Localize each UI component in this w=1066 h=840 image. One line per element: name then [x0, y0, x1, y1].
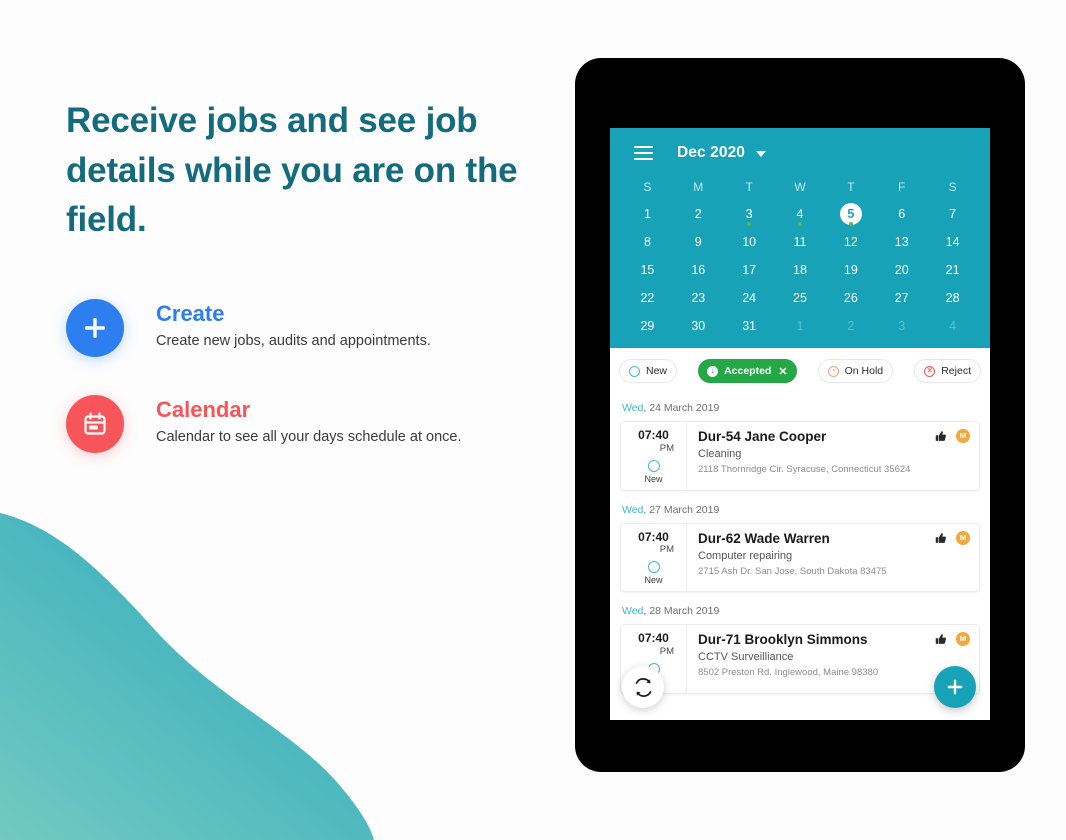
calendar-topbar: Dec 2020 [622, 142, 978, 174]
calendar-day-cell[interactable]: 31 [724, 312, 775, 340]
calendar-day-cell[interactable]: 6 [876, 200, 927, 228]
filter-chip-new[interactable]: New [619, 359, 677, 383]
job-time-column: 07:40PMNew [621, 422, 687, 490]
feature-desc-calendar: Calendar to see all your days schedule a… [156, 428, 462, 447]
calendar-day-cell[interactable]: 15 [622, 256, 673, 284]
calendar-day-cell[interactable]: 13 [876, 228, 927, 256]
job-card[interactable]: 07:40PMNewDur-62 Wade WarrenComputer rep… [620, 523, 980, 593]
calendar-day-headers: SMTWTFS [622, 174, 978, 200]
calendar-day-cell[interactable]: 3 [724, 200, 775, 228]
job-group-weekday: Wed [622, 504, 643, 516]
calendar-day-number: 6 [891, 203, 913, 225]
feature-item-create: Create Create new jobs, audits and appoi… [66, 297, 566, 357]
calendar-day-cell[interactable]: 14 [927, 228, 978, 256]
job-group-date: Wed, 28 March 2019 [622, 605, 980, 617]
calendar-day-cell[interactable]: 4 [775, 200, 826, 228]
calendar-day-cell[interactable]: 1 [622, 200, 673, 228]
job-card-icons: M [935, 429, 970, 443]
job-time: 07:40 [629, 531, 678, 544]
calendar-day-cell[interactable]: 17 [724, 256, 775, 284]
calendar-day-number: 11 [789, 231, 811, 253]
calendar-icon [81, 410, 109, 438]
month-label: Dec 2020 [677, 144, 745, 162]
close-icon[interactable]: ✕ [778, 365, 787, 378]
calendar-day-cell[interactable]: 26 [825, 284, 876, 312]
filter-chip-label: New [646, 365, 667, 377]
calendar-week-row: 1234567 [622, 200, 978, 228]
sync-button[interactable] [622, 666, 664, 708]
filter-chip-reject[interactable]: ✕Reject [914, 359, 981, 383]
job-group-date: Wed, 24 March 2019 [622, 402, 980, 414]
calendar-day-number: 20 [891, 259, 913, 281]
calendar-day-cell[interactable]: 22 [622, 284, 673, 312]
calendar-day-cell[interactable]: 1 [775, 312, 826, 340]
filter-chip-on-hold[interactable]: ◔On Hold [818, 359, 894, 383]
calendar-day-number: 10 [738, 231, 760, 253]
calendar-day-number: 8 [636, 231, 658, 253]
calendar-week-row: 22232425262728 [622, 284, 978, 312]
calendar-day-cell[interactable]: 2 [673, 200, 724, 228]
feature-desc-create: Create new jobs, audits and appointments… [156, 332, 431, 351]
job-subtitle: Computer repairing [698, 550, 970, 562]
create-feature-text: Create Create new jobs, audits and appoi… [156, 297, 431, 351]
job-title: Dur-54 Jane Cooper [698, 429, 970, 445]
avatar[interactable]: M [956, 632, 970, 646]
calendar-day-number: 19 [840, 259, 862, 281]
calendar-event-dot [747, 222, 751, 226]
job-meridiem: PM [629, 544, 678, 555]
calendar-week-row: 2930311234 [622, 312, 978, 340]
calendar-day-cell[interactable]: 4 [927, 312, 978, 340]
calendar-day-cell[interactable]: 9 [673, 228, 724, 256]
calendar-day-number: 4 [942, 315, 964, 337]
create-feature-badge [66, 299, 124, 357]
calendar-day-cell[interactable]: 16 [673, 256, 724, 284]
calendar-day-number: 26 [840, 287, 862, 309]
calendar-day-header: S [927, 174, 978, 200]
calendar-day-cell[interactable]: 29 [622, 312, 673, 340]
calendar-day-number: 28 [942, 287, 964, 309]
marketing-panel: Receive jobs and see job details while y… [66, 96, 566, 489]
calendar-day-header: F [876, 174, 927, 200]
plus-icon [80, 313, 110, 343]
job-status-label: New [629, 575, 678, 585]
thumbs-up-icon[interactable] [935, 532, 947, 544]
calendar-day-number: 13 [891, 231, 913, 253]
calendar-event-dot [849, 222, 853, 226]
job-card[interactable]: 07:40PMNewDur-71 Brooklyn SimmonsCCTV Su… [620, 624, 980, 694]
job-group-weekday: Wed [622, 402, 643, 414]
job-details: Dur-62 Wade WarrenComputer repairing2715… [687, 524, 979, 592]
calendar-day-cell[interactable]: 21 [927, 256, 978, 284]
calendar-day-cell[interactable]: 18 [775, 256, 826, 284]
filter-chip-accepted[interactable]: ↓Accepted✕ [698, 359, 796, 383]
calendar-day-number: 9 [687, 231, 709, 253]
calendar-day-cell[interactable]: 25 [775, 284, 826, 312]
calendar-day-header: T [825, 174, 876, 200]
calendar-day-number: 30 [687, 315, 709, 337]
circle-outline-icon [629, 366, 640, 377]
job-address: 8502 Preston Rd. Inglewood, Maine 98380 [698, 667, 970, 678]
calendar-day-cell[interactable]: 11 [775, 228, 826, 256]
job-title: Dur-71 Brooklyn Simmons [698, 632, 970, 648]
calendar-day-number: 23 [687, 287, 709, 309]
sync-refresh-icon [633, 677, 654, 698]
job-list[interactable]: Wed, 24 March 201907:40PMNewDur-54 Jane … [610, 392, 990, 720]
job-time: 07:40 [629, 632, 678, 645]
calendar-day-number: 15 [636, 259, 658, 281]
status-ring-icon [648, 460, 660, 472]
calendar-day-number: 1 [789, 315, 811, 337]
feature-item-calendar: Calendar Calendar to see all your days s… [66, 393, 566, 453]
job-card-icons: M [935, 531, 970, 545]
check-down-circle-icon: ↓ [707, 366, 718, 377]
calendar-day-number: 1 [636, 203, 658, 225]
calendar-day-number: 7 [942, 203, 964, 225]
calendar-day-number: 16 [687, 259, 709, 281]
calendar-week-row: 15161718192021 [622, 256, 978, 284]
calendar-day-number: 18 [789, 259, 811, 281]
calendar-day-header: S [622, 174, 673, 200]
tablet-device-frame: Dec 2020 SMTWTFS 12345678910111213141516… [575, 58, 1025, 772]
calendar-day-header: T [724, 174, 775, 200]
app-screen: Dec 2020 SMTWTFS 12345678910111213141516… [610, 128, 990, 720]
job-meridiem: PM [629, 646, 678, 657]
calendar-event-dot [798, 222, 802, 226]
background-blob-decoration [0, 480, 400, 840]
calendar-day-cell[interactable]: 28 [927, 284, 978, 312]
calendar-day-cell[interactable]: 20 [876, 256, 927, 284]
calendar-panel: Dec 2020 SMTWTFS 12345678910111213141516… [610, 128, 990, 348]
filter-chip-label: On Hold [845, 365, 884, 377]
calendar-day-header: W [775, 174, 826, 200]
calendar-day-cell[interactable]: 7 [927, 200, 978, 228]
calendar-day-number: 31 [738, 315, 760, 337]
calendar-day-cell[interactable]: 2 [825, 312, 876, 340]
job-group: Wed, 27 March 201907:40PMNewDur-62 Wade … [620, 504, 980, 593]
chevron-down-icon [756, 151, 766, 157]
job-group: Wed, 28 March 201907:40PMNewDur-71 Brook… [620, 605, 980, 694]
job-meridiem: PM [629, 443, 678, 454]
job-group-date: Wed, 27 March 2019 [622, 504, 980, 516]
calendar-day-number: 21 [942, 259, 964, 281]
calendar-day-number: 3 [891, 315, 913, 337]
calendar-day-number: 14 [942, 231, 964, 253]
job-subtitle: Cleaning [698, 448, 970, 460]
hamburger-menu-icon[interactable] [634, 146, 653, 160]
job-group: Wed, 24 March 201907:40PMNewDur-54 Jane … [620, 402, 980, 491]
calendar-day-number: 25 [789, 287, 811, 309]
thumbs-up-icon[interactable] [935, 633, 947, 645]
calendar-day-cell[interactable]: 10 [724, 228, 775, 256]
page-title: Receive jobs and see job details while y… [66, 96, 546, 245]
calendar-week-row: 891011121314 [622, 228, 978, 256]
filter-chip-label: Reject [941, 365, 971, 377]
calendar-day-cell[interactable]: 12 [825, 228, 876, 256]
feature-title-create: Create [156, 301, 431, 327]
calendar-day-cell[interactable]: 23 [673, 284, 724, 312]
job-group-weekday: Wed [622, 605, 643, 617]
thumbs-up-icon[interactable] [935, 430, 947, 442]
job-card[interactable]: 07:40PMNewDur-54 Jane CooperCleaning2118… [620, 421, 980, 491]
x-circle-icon: ✕ [924, 366, 935, 377]
calendar-day-cell[interactable]: 27 [876, 284, 927, 312]
calendar-day-number: 12 [840, 231, 862, 253]
calendar-feature-text: Calendar Calendar to see all your days s… [156, 393, 462, 447]
job-card-icons: M [935, 632, 970, 646]
avatar[interactable]: M [956, 531, 970, 545]
calendar-day-cell[interactable]: 30 [673, 312, 724, 340]
status-filter-bar: New↓Accepted✕◔On Hold✕Reject [610, 348, 990, 392]
job-time: 07:40 [629, 429, 678, 442]
calendar-day-number: 17 [738, 259, 760, 281]
avatar[interactable]: M [956, 429, 970, 443]
job-time-column: 07:40PMNew [621, 524, 687, 592]
job-address: 2118 Thornridge Cir. Syracuse, Connectic… [698, 464, 970, 475]
calendar-day-header: M [673, 174, 724, 200]
clock-icon: ◔ [828, 366, 839, 377]
calendar-day-cell[interactable]: 19 [825, 256, 876, 284]
feature-title-calendar: Calendar [156, 397, 462, 423]
calendar-day-cell[interactable]: 5 [825, 200, 876, 228]
plus-icon [944, 676, 966, 698]
calendar-day-number: 29 [636, 315, 658, 337]
status-ring-icon [648, 561, 660, 573]
job-title: Dur-62 Wade Warren [698, 531, 970, 547]
calendar-day-cell[interactable]: 3 [876, 312, 927, 340]
calendar-day-number: 22 [636, 287, 658, 309]
month-selector[interactable]: Dec 2020 [677, 144, 766, 162]
calendar-day-cell[interactable]: 8 [622, 228, 673, 256]
calendar-day-number: 27 [891, 287, 913, 309]
calendar-day-number: 24 [738, 287, 760, 309]
job-details: Dur-54 Jane CooperCleaning2118 Thornridg… [687, 422, 979, 490]
calendar-grid: 1234567891011121314151617181920212223242… [622, 200, 978, 340]
calendar-feature-badge [66, 395, 124, 453]
job-subtitle: CCTV Surveilliance [698, 651, 970, 663]
feature-list: Create Create new jobs, audits and appoi… [66, 297, 566, 453]
filter-chip-label: Accepted [724, 365, 771, 377]
calendar-day-cell[interactable]: 24 [724, 284, 775, 312]
calendar-day-number: 2 [840, 315, 862, 337]
add-job-button[interactable] [934, 666, 976, 708]
job-address: 2715 Ash Dr. San Jose, South Dakota 8347… [698, 566, 970, 577]
job-status-label: New [629, 474, 678, 484]
calendar-day-number: 2 [687, 203, 709, 225]
